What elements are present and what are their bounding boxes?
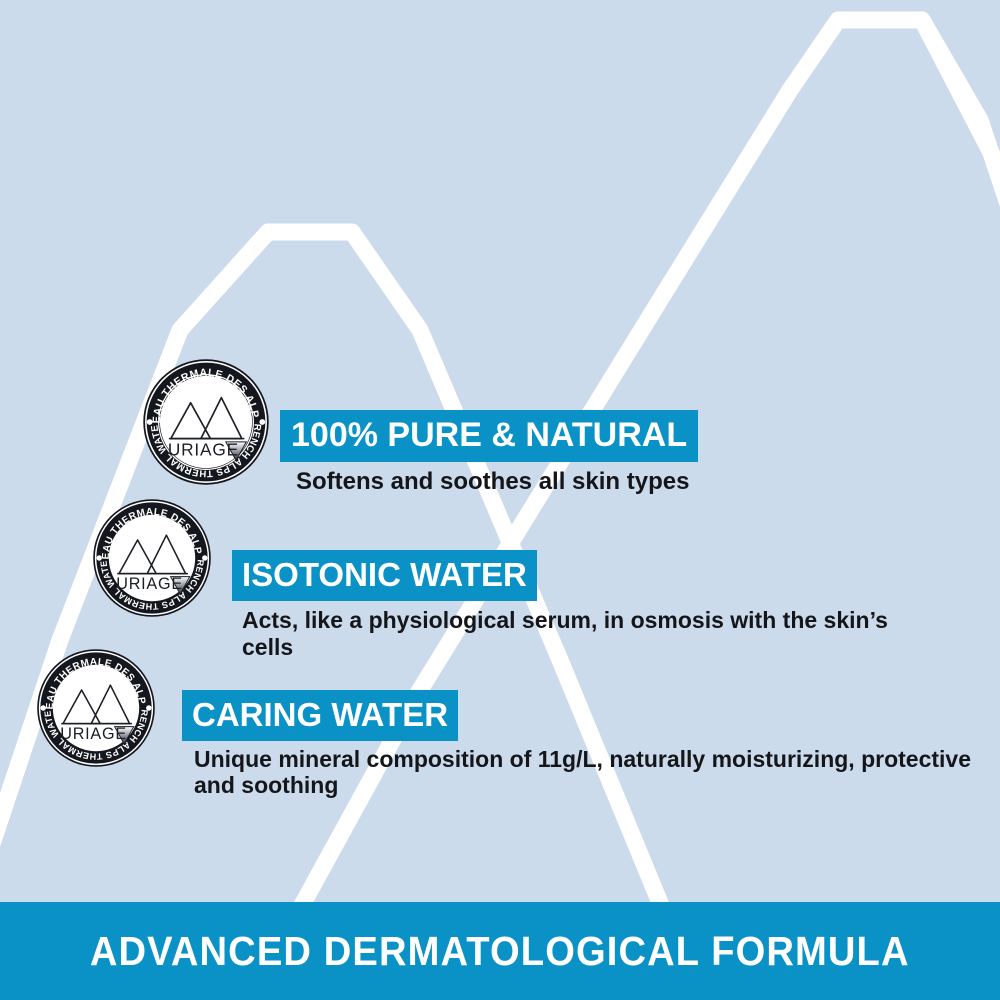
bottom-banner: ADVANCED DERMATOLOGICAL FORMULA xyxy=(0,902,1000,1000)
feature-block-isotonic-water: ISOTONIC WATER Acts, like a physiologica… xyxy=(232,550,922,661)
feature-block-pure-natural: 100% PURE & NATURAL Softens and soothes … xyxy=(280,410,698,496)
svg-text:URIAGE: URIAGE xyxy=(168,439,239,459)
feature-block-caring-water: CARING WATER Unique mineral composition … xyxy=(182,690,974,799)
feature-description: Softens and soothes all skin types xyxy=(296,468,698,496)
bottom-banner-text: ADVANCED DERMATOLOGICAL FORMULA xyxy=(90,928,910,975)
uriage-seal-icon: L'EAU THERMALE DES ALPES FRENCH ALPS THE… xyxy=(36,648,156,768)
feature-heading-banner: CARING WATER xyxy=(182,690,458,741)
uriage-seal-icon: L'EAU THERMALE DES ALPES FRENCH ALPS THE… xyxy=(142,358,270,486)
peak-right-flank xyxy=(922,20,1000,170)
feature-heading-banner: 100% PURE & NATURAL xyxy=(280,410,698,462)
uriage-seal-icon: L'EAU THERMALE DES ALPES FRENCH ALPS THE… xyxy=(92,498,212,618)
feature-description: Unique mineral composition of 11g/L, nat… xyxy=(194,747,974,799)
peak-right-outline xyxy=(250,20,1000,1000)
feature-heading-banner: ISOTONIC WATER xyxy=(232,550,537,601)
svg-text:URIAGE: URIAGE xyxy=(116,575,183,593)
poster-root: 100% PURE & NATURAL Softens and soothes … xyxy=(0,0,1000,1000)
svg-text:URIAGE: URIAGE xyxy=(60,725,127,743)
feature-description: Acts, like a physiological serum, in osm… xyxy=(242,607,922,661)
